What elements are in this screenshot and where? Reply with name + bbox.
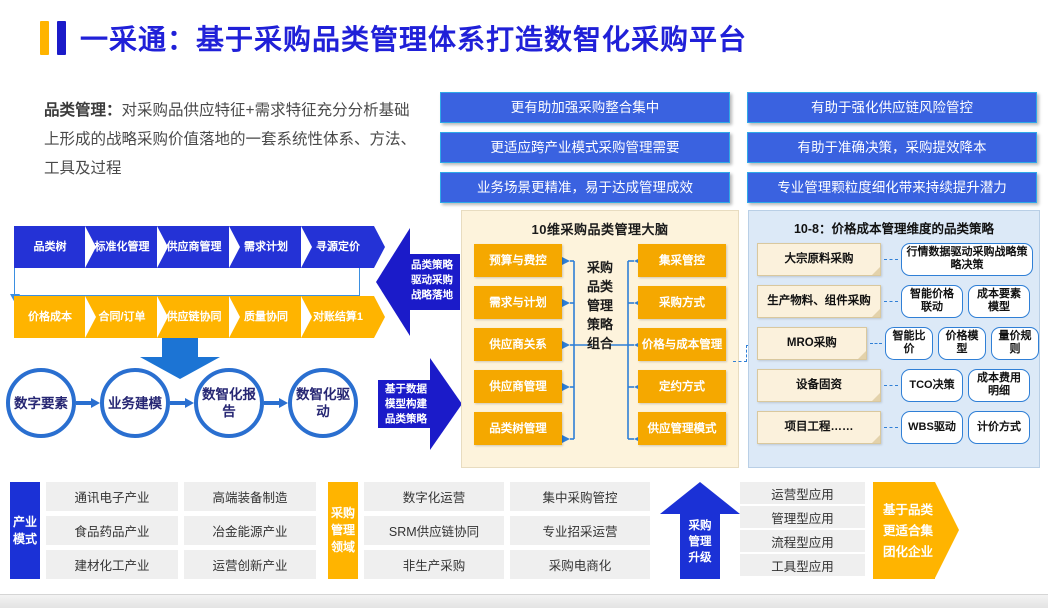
category-tag[interactable]: 设备固资 <box>757 369 881 402</box>
circle-node[interactable]: 数智化报告 <box>194 368 264 438</box>
circle-arrow-icon <box>170 398 194 408</box>
title-accent-orange-icon <box>40 21 49 55</box>
page-title: 一采通：基于采购品类管理体系打造数智化采购平台 <box>40 18 747 58</box>
matrix-cell[interactable]: 数字化运营 <box>364 482 504 511</box>
strategy-pill[interactable]: 价格模型 <box>938 327 986 360</box>
bottom-divider <box>0 594 1048 608</box>
center-panel-header: 10维采购品类管理大脑 <box>462 211 738 238</box>
chevron-step[interactable]: 品类树 <box>14 226 86 268</box>
matrix-cell[interactable]: 食品药品产业 <box>46 516 178 545</box>
circle-node[interactable]: 业务建模 <box>100 368 170 438</box>
center-panel-body: 预算与费控 需求与计划 供应商关系 供应商管理 品类树管理 采购 品类 管理 策… <box>462 244 738 456</box>
matrix-cell[interactable]: 采购电商化 <box>510 550 650 579</box>
title-accent-blue-icon <box>57 21 66 55</box>
category-tag[interactable]: 生产物料、组件采购 <box>757 285 881 318</box>
banner-item[interactable]: 专业管理颗粒度细化带来持续提升潜力 <box>747 172 1037 203</box>
strategy-pill[interactable]: 成本要素模型 <box>968 285 1030 318</box>
category-tag[interactable]: MRO采购 <box>757 327 867 360</box>
industry-col-2: 高端装备制造 冶金能源产业 运营创新产业 <box>184 482 316 579</box>
center-dimension-box[interactable]: 需求与计划 <box>474 286 562 319</box>
center-strategy-label: 采购 品类 管理 策略 组合 <box>583 258 617 353</box>
matrix-cell[interactable]: 建材化工产业 <box>46 550 178 579</box>
domain-col-1: 数字化运营 SRM供应链协同 非生产采购 <box>364 482 504 579</box>
strategy-pill[interactable]: 智能价格联动 <box>901 285 963 318</box>
strategy-pill[interactable]: WBS驱动 <box>901 411 963 444</box>
bottom-tag-industry-mode: 产业 模式 <box>10 482 40 579</box>
industry-col-1: 通讯电子产业 食品药品产业 建材化工产业 <box>46 482 178 579</box>
matrix-cell[interactable]: 集中采购管控 <box>510 482 650 511</box>
category-tag[interactable]: 项目工程…… <box>757 411 881 444</box>
arrow-left-strategy-icon: 品类策略 驱动采购 战略落地 <box>376 228 460 336</box>
benefit-banner-grid: 更有助加强采购整合集中 有助于强化供应链风险管控 更适应跨产业模式采购管理需要 … <box>440 92 1040 203</box>
circle-arrow-icon <box>76 398 100 408</box>
title-text: 一采通：基于采购品类管理体系打造数智化采购平台 <box>80 18 747 58</box>
center-right-column: 集采管控 采购方式 价格与成本管理 定约方式 供应管理模式 <box>638 244 726 445</box>
right-panel-row: 项目工程…… WBS驱动 计价方式 <box>749 407 1039 447</box>
final-chevron-conclusion: 基于品类 更适合集 团化企业 <box>873 482 959 579</box>
strategy-pill[interactable]: 行情数据驱动采购战略策略决策 <box>901 243 1033 276</box>
matrix-cell[interactable]: 通讯电子产业 <box>46 482 178 511</box>
arrow-up-label: 采购 管理 升级 <box>680 518 720 566</box>
circle-arrow-icon <box>264 398 288 408</box>
domain-col-2: 集中采购管控 专业招采运营 采购电商化 <box>510 482 650 579</box>
banner-item[interactable]: 更适应跨产业模式采购管理需要 <box>440 132 730 163</box>
center-dimension-box[interactable]: 品类树管理 <box>474 412 562 445</box>
final-chevron-label: 基于品类 更适合集 团化企业 <box>873 500 943 563</box>
center-dimension-box[interactable]: 采购方式 <box>638 286 726 319</box>
circle-node[interactable]: 数智化驱动 <box>288 368 358 438</box>
flow-loop-connector <box>14 268 360 296</box>
center-left-column: 预算与费控 需求与计划 供应商关系 供应商管理 品类树管理 <box>474 244 562 445</box>
matrix-cell[interactable]: 高端装备制造 <box>184 482 316 511</box>
right-panel-row: 大宗原料采购 行情数据驱动采购战略策略决策 <box>749 239 1039 279</box>
matrix-cell[interactable]: 运营型应用 <box>740 482 865 504</box>
right-panel-row: 生产物料、组件采购 智能价格联动 成本要素模型 <box>749 281 1039 321</box>
upgrade-col: 运营型应用 管理型应用 流程型应用 工具型应用 <box>740 482 865 576</box>
dash-connector-icon <box>884 427 898 428</box>
banner-item[interactable]: 更有助加强采购整合集中 <box>440 92 730 123</box>
dash-connector-icon <box>884 385 898 386</box>
center-dimension-box[interactable]: 价格与成本管理 <box>638 328 726 361</box>
center-dimension-box[interactable]: 供应商管理 <box>474 370 562 403</box>
strategy-pill[interactable]: 量价规则 <box>991 327 1039 360</box>
banner-item[interactable]: 有助于准确决策，采购提效降本 <box>747 132 1037 163</box>
matrix-cell[interactable]: 流程型应用 <box>740 530 865 552</box>
center-dimension-box[interactable]: 供应商关系 <box>474 328 562 361</box>
slide-root: 一采通：基于采购品类管理体系打造数智化采购平台 品类管理：对采购品供应特征+需求… <box>0 0 1048 607</box>
right-panel-price-strategy: 10-8：价格成本管理维度的品类策略 大宗原料采购 行情数据驱动采购战略策略决策… <box>748 210 1040 468</box>
process-chevron-flows: 品类树 标准化管理 供应商管理 需求计划 寻源定价 价格成本 合同/订单 供应链… <box>14 226 374 338</box>
strategy-pill[interactable]: 计价方式 <box>968 411 1030 444</box>
dash-connector-icon <box>884 259 898 260</box>
banner-item[interactable]: 业务场景更精准，易于达成管理成效 <box>440 172 730 203</box>
strategy-pill[interactable]: 智能比价 <box>885 327 933 360</box>
matrix-cell[interactable]: 冶金能源产业 <box>184 516 316 545</box>
right-panel-row: 设备固资 TCO决策 成本费用明细 <box>749 365 1039 405</box>
intro-paragraph: 品类管理：对采购品供应特征+需求特征充分分析基础上形成的战略采购价值落地的一套系… <box>44 96 424 183</box>
matrix-cell[interactable]: 运营创新产业 <box>184 550 316 579</box>
banner-item[interactable]: 有助于强化供应链风险管控 <box>747 92 1037 123</box>
bottom-matrix: 产业 模式 通讯电子产业 食品药品产业 建材化工产业 高端装备制造 冶金能源产业… <box>10 482 1042 587</box>
center-dimension-box[interactable]: 定约方式 <box>638 370 726 403</box>
digital-chain-circles: 数字要素 业务建模 数智化报告 数智化驱动 <box>6 368 358 438</box>
bottom-tag-procurement-domain: 采购 管理 领域 <box>328 482 358 579</box>
circle-node[interactable]: 数字要素 <box>6 368 76 438</box>
matrix-cell[interactable]: 工具型应用 <box>740 554 865 576</box>
category-tag[interactable]: 大宗原料采购 <box>757 243 881 276</box>
strategy-pill[interactable]: TCO决策 <box>901 369 963 402</box>
arrow-left-label: 品类策略 驱动采购 战略落地 <box>406 258 458 303</box>
arrow-right-datamodel-icon: 基于数据 模型构建 品类策略 <box>378 358 462 450</box>
center-panel-brain: 10维采购品类管理大脑 <box>461 210 739 468</box>
matrix-cell[interactable]: 管理型应用 <box>740 506 865 528</box>
chevron-row-sourcing: 品类树 标准化管理 供应商管理 需求计划 寻源定价 <box>14 226 374 268</box>
chevron-row-execution: 价格成本 合同/订单 供应链协同 质量协同 对账结算1 <box>14 296 374 338</box>
center-dimension-box[interactable]: 预算与费控 <box>474 244 562 277</box>
center-dimension-box[interactable]: 供应管理模式 <box>638 412 726 445</box>
matrix-cell[interactable]: 非生产采购 <box>364 550 504 579</box>
dash-connector-icon <box>870 343 882 344</box>
center-dimension-box[interactable]: 集采管控 <box>638 244 726 277</box>
strategy-pill[interactable]: 成本费用明细 <box>968 369 1030 402</box>
arrow-up-upgrade-icon: 采购 管理 升级 <box>660 482 740 579</box>
right-panel-header: 10-8：价格成本管理维度的品类策略 <box>749 211 1039 237</box>
intro-label: 品类管理： <box>44 102 122 119</box>
arrow-right-label: 基于数据 模型构建 品类策略 <box>380 382 432 427</box>
matrix-cell[interactable]: SRM供应链协同 <box>364 516 504 545</box>
matrix-cell[interactable]: 专业招采运营 <box>510 516 650 545</box>
right-panel-row: MRO采购 智能比价 价格模型 量价规则 <box>749 323 1039 363</box>
dash-connector-icon <box>884 301 898 302</box>
chevron-step[interactable]: 价格成本 <box>14 296 86 338</box>
